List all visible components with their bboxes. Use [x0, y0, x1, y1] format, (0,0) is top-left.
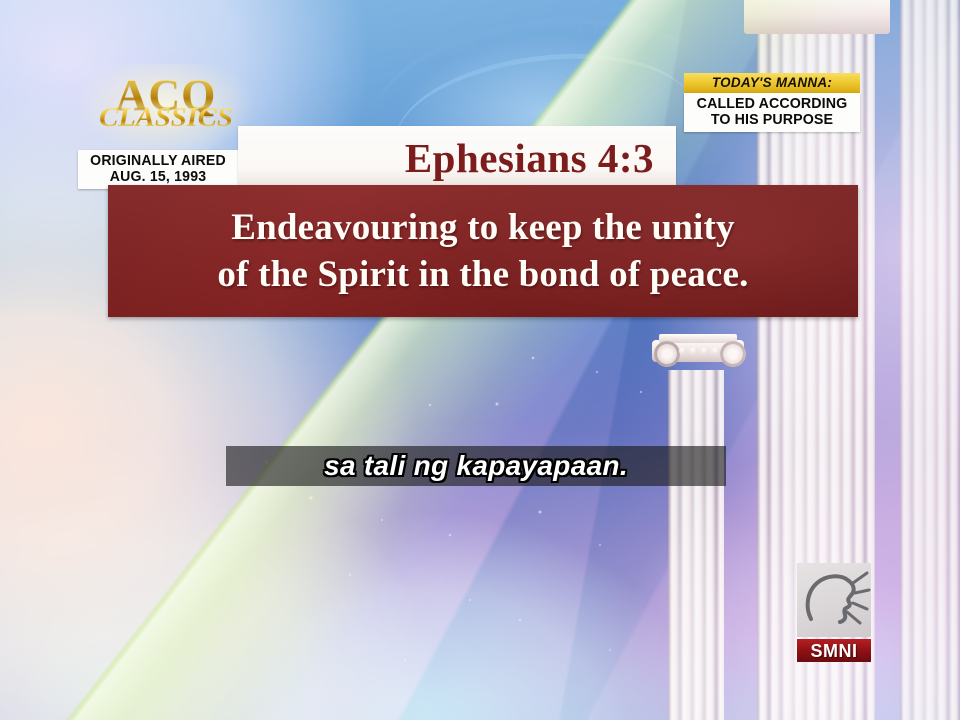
manna-topic-line-2: TO HIS PURPOSE: [693, 112, 851, 128]
manna-title-text: TODAY'S MANNA:: [693, 75, 850, 90]
originally-aired-label: ORIGINALLY AIRED: [87, 153, 230, 169]
capital-bead: [679, 347, 687, 355]
capital-bead: [690, 347, 698, 355]
program-logo: ACQ CLASSICS: [96, 74, 236, 146]
subtitle-bar: sa tali ng kapayapaan.: [226, 446, 726, 486]
network-logo: SMNI: [797, 563, 871, 662]
column-right-capital: [744, 0, 890, 34]
network-name: SMNI: [811, 642, 858, 660]
broadcast-frame: JESUS CHRIST ACQ CLASSICS ORIGINALLY AIR…: [0, 0, 960, 720]
column-far-right: [900, 0, 960, 720]
originally-aired-plate: ORIGINALLY AIRED AUG. 15, 1993: [78, 150, 238, 189]
manna-title-bar: TODAY'S MANNA:: [684, 73, 860, 93]
scripture-reference: Ephesians 4:3: [405, 136, 654, 181]
capital-bead: [701, 347, 709, 355]
network-logo-label: SMNI: [797, 639, 871, 662]
scripture-text: Endeavouring to keep the unity of the Sp…: [108, 185, 858, 317]
scripture-text-band: Endeavouring to keep the unity of the Sp…: [108, 185, 858, 317]
manna-topic-line-1: CALLED ACCORDING: [693, 96, 851, 112]
ionic-volute-right-icon: [720, 341, 746, 367]
face-profile-icon: [797, 563, 871, 637]
todays-manna-banner: TODAY'S MANNA: CALLED ACCORDING TO HIS P…: [684, 73, 860, 132]
program-logo-secondary: CLASSICS: [92, 104, 240, 131]
column-center: [668, 370, 724, 720]
ionic-volute-left-icon: [654, 341, 680, 367]
originally-aired-date: AUG. 15, 1993: [87, 169, 230, 185]
scripture-reference-band: Ephesians 4:3: [238, 126, 676, 185]
scripture-line-2: of the Spirit in the bond of peace.: [217, 252, 748, 297]
subtitle-caption: sa tali ng kapayapaan.: [324, 451, 628, 481]
capital-bead: [712, 347, 720, 355]
network-logo-mark: [797, 563, 871, 637]
manna-topic-plate: CALLED ACCORDING TO HIS PURPOSE: [684, 93, 860, 132]
scripture-line-1: Endeavouring to keep the unity: [231, 205, 735, 250]
